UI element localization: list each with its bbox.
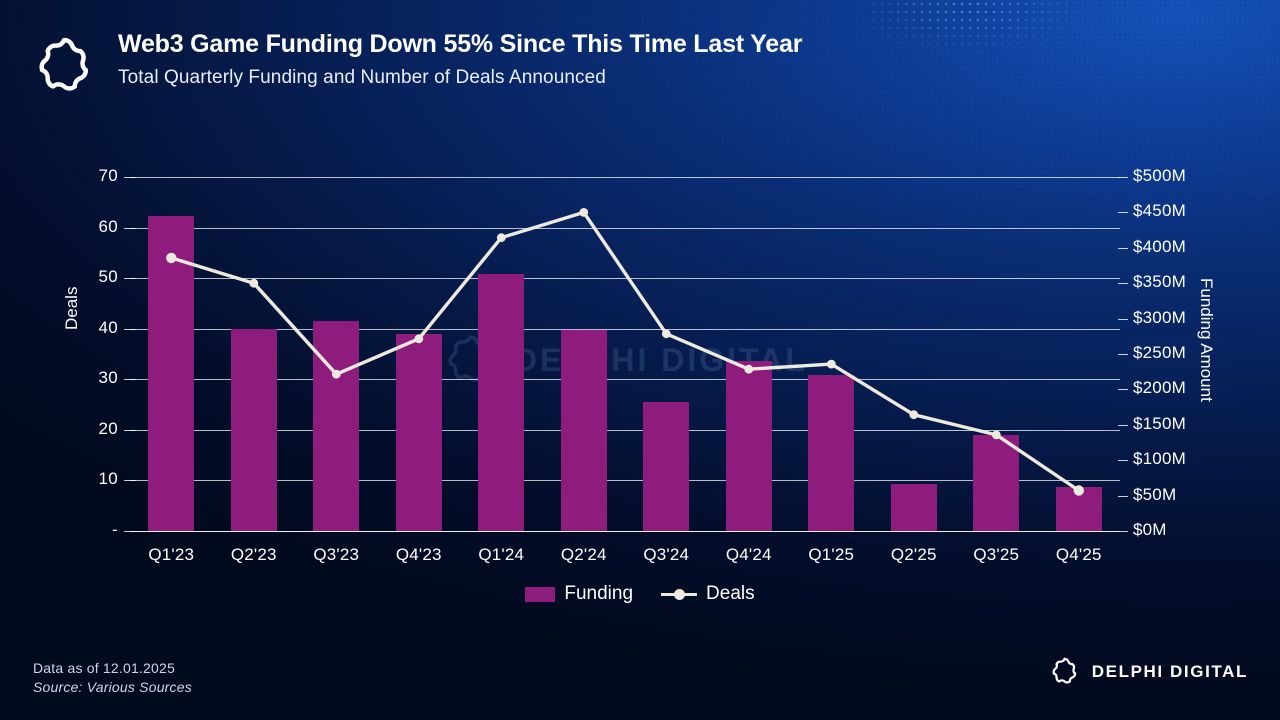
y-axis-left-tick: 40 <box>88 318 118 338</box>
x-axis-tick-Q223: Q2'23 <box>213 545 296 565</box>
y-axis-left-tick: 60 <box>88 217 118 237</box>
y-axis-right-tick: $450M <box>1133 201 1186 221</box>
y-axis-right-tick: $300M <box>1133 308 1186 328</box>
y-axis-left-tick: - <box>88 520 118 540</box>
x-axis-tick-Q124: Q1'24 <box>460 545 543 565</box>
x-axis-tick-Q123: Q1'23 <box>130 545 213 565</box>
y-axis-right-tick: $400M <box>1133 237 1186 257</box>
y-axis-right-tick: $100M <box>1133 449 1186 469</box>
header-titles: Web3 Game Funding Down 55% Since This Ti… <box>118 30 802 89</box>
line-series-deals <box>130 177 1120 531</box>
y-axis-left-label: Deals <box>62 287 82 330</box>
delphi-ring-icon <box>30 32 98 100</box>
y-axis-left-tick: 10 <box>88 469 118 489</box>
deals-point-Q124[interactable] <box>497 233 506 242</box>
footer-notes: Data as of 12.01.2025 Source: Various So… <box>33 660 192 695</box>
deals-point-Q325[interactable] <box>992 431 1001 440</box>
legend-label-funding: Funding <box>564 583 633 605</box>
legend-label-deals: Deals <box>706 583 755 605</box>
legend-item-funding[interactable]: Funding <box>525 583 633 605</box>
legend-line-deals <box>661 586 697 602</box>
deals-point-Q324[interactable] <box>662 329 671 338</box>
deals-point-Q223[interactable] <box>249 279 258 288</box>
deals-point-Q423[interactable] <box>414 334 423 343</box>
y-axis-right-tick: $500M <box>1133 166 1186 186</box>
y-axis-left-tick: 20 <box>88 419 118 439</box>
source-text: Source: Various Sources <box>33 679 192 695</box>
y-axis-left-tick: 50 <box>88 267 118 287</box>
deals-line-path <box>171 212 1079 490</box>
deals-point-Q424[interactable] <box>744 365 753 374</box>
plot-area <box>130 177 1120 531</box>
legend: Funding Deals <box>0 583 1280 605</box>
y-axis-right-label: Funding Amount <box>1196 278 1216 402</box>
footer-brand-text: DELPHI DIGITAL <box>1092 662 1248 682</box>
background-dot-cluster <box>870 0 1150 90</box>
deals-point-Q323[interactable] <box>332 370 341 379</box>
y-axis-right-tick: $0M <box>1133 520 1167 540</box>
y-axis-left-tick: 30 <box>88 368 118 388</box>
x-axis-tick-Q224: Q2'24 <box>543 545 626 565</box>
deals-point-Q125[interactable] <box>827 360 836 369</box>
x-axis-tick-Q323: Q3'23 <box>295 545 378 565</box>
y-axis-right-tick: $350M <box>1133 272 1186 292</box>
deals-point-Q123[interactable] <box>166 253 176 263</box>
page-title: Web3 Game Funding Down 55% Since This Ti… <box>118 30 802 59</box>
page-subtitle: Total Quarterly Funding and Number of De… <box>118 67 802 89</box>
y-axis-left-tick: 70 <box>88 166 118 186</box>
y-axis-right-tick: $250M <box>1133 343 1186 363</box>
x-axis-tick-Q424: Q4'24 <box>708 545 791 565</box>
footer-delphi-ring-icon <box>1048 655 1081 688</box>
x-axis-tick-Q425: Q4'25 <box>1038 545 1121 565</box>
y-axis-right-tick: $200M <box>1133 378 1186 398</box>
x-axis-tick-Q423: Q4'23 <box>378 545 461 565</box>
legend-swatch-funding <box>525 587 555 602</box>
gridline <box>130 531 1120 532</box>
header: Web3 Game Funding Down 55% Since This Ti… <box>30 30 802 100</box>
deals-point-Q425[interactable] <box>1074 485 1084 495</box>
deals-point-Q224[interactable] <box>579 208 588 217</box>
data-as-of-text: Data as of 12.01.2025 <box>33 660 192 676</box>
legend-item-deals[interactable]: Deals <box>661 583 755 605</box>
y-axis-right-tick: $150M <box>1133 414 1186 434</box>
x-axis-tick-Q324: Q3'24 <box>625 545 708 565</box>
y-axis-right-tick: $50M <box>1133 485 1176 505</box>
deals-point-Q225[interactable] <box>909 410 918 419</box>
x-axis-tick-Q325: Q3'25 <box>955 545 1038 565</box>
footer-brand: DELPHI DIGITAL <box>1048 655 1248 688</box>
x-axis-tick-Q225: Q2'25 <box>873 545 956 565</box>
x-axis-tick-Q125: Q1'25 <box>790 545 873 565</box>
